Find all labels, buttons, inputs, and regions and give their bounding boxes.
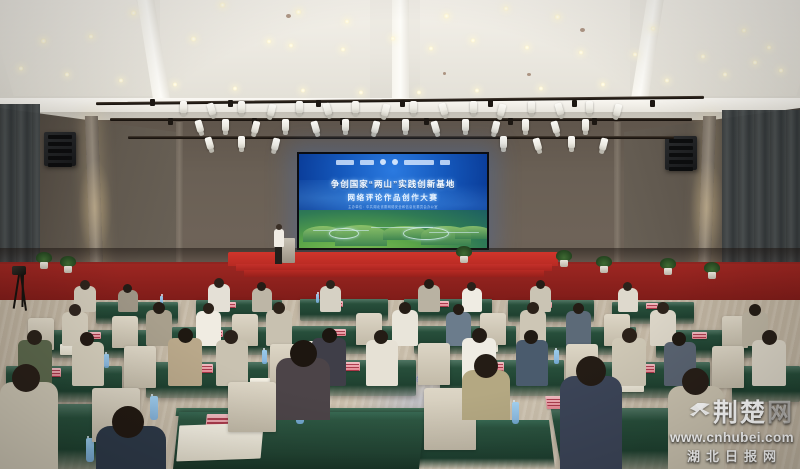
water-bottle — [150, 396, 158, 420]
attendee-head — [573, 303, 584, 314]
attendee — [118, 290, 138, 312]
screen-headline: 争创国家“两山”实践创新基地 — [299, 178, 487, 190]
attendee-head — [622, 328, 637, 343]
water-bottle — [104, 354, 109, 368]
attendee-head — [672, 332, 686, 346]
attendee — [752, 340, 786, 386]
attendee — [366, 340, 398, 386]
attendee-head — [12, 364, 40, 392]
attendee-head — [290, 340, 317, 367]
attendee — [320, 286, 341, 312]
screen-subheadline: 网络评论作品创作大赛 — [299, 192, 487, 203]
attendee-head — [657, 302, 669, 314]
attendee-head — [424, 279, 434, 289]
wall-speaker-left — [44, 132, 76, 166]
water-bottle — [262, 350, 267, 364]
attendee-head — [214, 278, 224, 288]
attendee-head — [399, 302, 411, 314]
conference-hall-photo: 争创国家“两山”实践创新基地 网络评论作品创作大赛 主办单位：中共湖北省委网络安… — [0, 0, 800, 469]
ceiling — [0, 0, 800, 132]
stage-plant-6 — [660, 258, 676, 275]
stage-plant-1 — [36, 252, 52, 269]
stage-step-2 — [244, 270, 544, 277]
water-bottle — [512, 402, 519, 424]
chair — [712, 346, 744, 388]
attendee-head — [576, 356, 606, 386]
attendee-head — [203, 303, 214, 314]
attendee-head — [153, 302, 165, 314]
attendee — [418, 285, 440, 312]
attendee-head — [527, 302, 539, 314]
chair — [124, 346, 156, 388]
table-namecard — [692, 332, 707, 339]
attendee — [252, 288, 272, 312]
attendee — [72, 342, 104, 386]
attendee — [516, 340, 548, 386]
screen-landscape-image — [299, 210, 487, 248]
attendee-head — [322, 328, 337, 343]
attendee — [618, 288, 638, 312]
presenter-legs — [275, 246, 282, 264]
attendee — [266, 310, 292, 346]
attendee-head — [374, 330, 388, 344]
attendee-head — [69, 304, 81, 316]
attendee — [276, 358, 330, 420]
attendee — [462, 288, 482, 312]
attendee-head — [326, 280, 335, 289]
attendee-head — [123, 284, 132, 293]
attendee-head — [524, 330, 538, 344]
attendee-head — [682, 368, 709, 395]
attendee-head — [257, 282, 266, 291]
attendee — [668, 386, 724, 469]
attendee-head — [224, 330, 238, 344]
attendee — [216, 340, 248, 386]
attendee-head — [178, 328, 193, 343]
attendee-head — [80, 332, 94, 346]
water-bottle — [554, 350, 559, 364]
attendee-head — [453, 304, 464, 315]
attendee — [566, 311, 591, 346]
led-stage-screen: 争创国家“两山”实践创新基地 网络评论作品创作大赛 主办单位：中共湖北省委网络安… — [297, 152, 489, 250]
camera-head-icon — [12, 266, 26, 275]
attendee-head — [472, 328, 487, 343]
water-bottle — [316, 294, 319, 303]
attendee-head — [80, 280, 90, 290]
attendee-head — [536, 280, 545, 289]
stage-plant-3 — [456, 246, 472, 263]
attendee-head — [623, 282, 632, 291]
chair — [228, 382, 276, 432]
attendee-head — [749, 304, 761, 316]
stage-plant-4 — [556, 250, 572, 267]
attendee — [0, 382, 58, 469]
wall-wash-left — [78, 160, 112, 255]
screen-sponsor-logos — [299, 159, 487, 165]
attendee-head — [474, 354, 498, 378]
wall-wash-right — [690, 160, 724, 255]
presenter-head — [276, 224, 282, 230]
wall-speaker-right — [665, 136, 697, 170]
chair — [418, 343, 450, 385]
stage-plant-2 — [60, 256, 76, 273]
attendee — [168, 338, 202, 386]
stage-plant-7 — [704, 262, 720, 279]
chair — [112, 316, 138, 348]
attendee-head — [27, 330, 42, 345]
attendee-head — [273, 302, 285, 314]
stage-plant-5 — [596, 256, 612, 273]
attendee-head — [112, 406, 144, 438]
attendee-head — [467, 282, 476, 291]
attendee-head — [762, 330, 777, 345]
presenter-body — [274, 229, 284, 247]
attendee — [560, 376, 622, 469]
